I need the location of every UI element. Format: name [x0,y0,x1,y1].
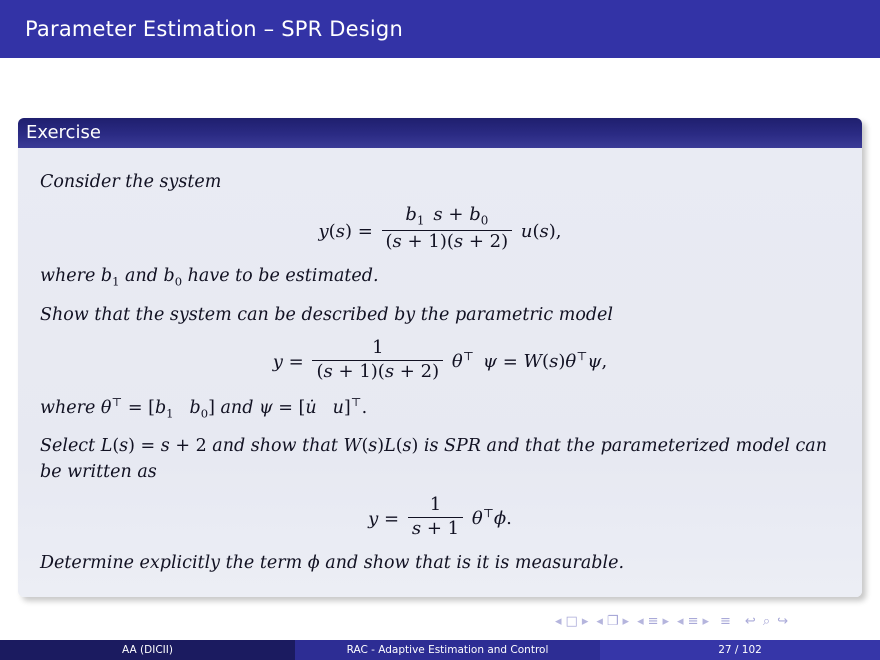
frame-icon[interactable]: ❐ [607,614,620,629]
frame-next-icon[interactable]: ▸ [623,614,631,629]
subsection-icon[interactable]: ≡ [648,614,660,629]
back-icon[interactable]: ↩ [745,614,757,629]
forward-icon[interactable]: ↪ [777,614,789,629]
footer-page-number: 27 / 102 [600,640,880,660]
slide-next-icon[interactable]: ▸ [582,614,590,629]
doc-icon[interactable]: ≡ [720,614,732,629]
equation-1-numerator: b1s + b0 [382,205,513,230]
exercise-block-heading: Exercise [18,118,862,148]
equation-2-lhs: y [273,351,283,372]
exercise-block-body: Consider the system y(s) = b1s + b0 (s +… [18,148,862,597]
subsection-next-icon[interactable]: ▸ [663,614,671,629]
nav-group-frame[interactable]: ◂❐▸ [596,614,630,629]
text-consider-the-system: Consider the system [40,170,848,195]
text-show-parametric-model: Show that the system can be described by… [40,303,848,328]
search-icon[interactable]: ⌕ [763,614,771,629]
text-select-ls-spr: Select L(s) = s + 2 and show that W(s)L(… [40,434,848,485]
equation-1-lhs: y [318,221,328,242]
equation-2-numerator: 1 [312,338,443,361]
equation-final-parameterized-model: y = 1 s + 1 θ⊤ϕ. [32,495,848,539]
equation-1-rhs: u [521,221,533,242]
equation-3-denominator: s + 1 [408,518,463,540]
equation-3-fraction: 1 s + 1 [408,495,463,539]
equation-1-denominator: (s + 1)(s + 2) [382,231,513,253]
equation-system-transfer-function: y(s) = b1s + b0 (s + 1)(s + 2) u(s), [32,205,848,252]
equation-2-fraction: 1 (s + 1)(s + 2) [312,338,443,382]
equation-3-numerator: 1 [408,495,463,518]
equation-parametric-model: y = 1 (s + 1)(s + 2) θ⊤ψ = W(s)θ⊤ψ, [32,338,848,382]
slide-title-bar: Parameter Estimation – SPR Design [0,0,880,58]
frame-prev-icon[interactable]: ◂ [596,614,604,629]
text-where-b1-b0-estimated: where b1 and b0 have to be estimated. [40,264,848,290]
footer-author: AA (DICII) [0,640,295,660]
equation-1-fraction: b1s + b0 (s + 1)(s + 2) [382,205,513,252]
equation-3-lhs: y [368,508,378,529]
nav-group-section[interactable]: ◂≡▸ [677,614,710,629]
nav-group-history[interactable]: ↩⌕↪ [742,614,792,629]
text-determine-phi-measurable: Determine explicitly the term ϕ and show… [40,551,848,576]
equation-2-rhs: W(s)θ⊤ψ, [524,351,608,372]
equation-2-denominator: (s + 1)(s + 2) [312,361,443,383]
slide-prev-icon[interactable]: ◂ [555,614,563,629]
equation-2-theta-psi: θ⊤ψ [452,351,497,372]
beamer-navigation-symbols: ◂□▸◂❐▸◂≡▸◂≡▸≡↩⌕↪ [555,614,865,636]
section-prev-icon[interactable]: ◂ [677,614,685,629]
text-where-theta-psi-definitions: where θ⊤ = [b1b0] and ψ = [u̇u]⊤. [40,394,848,422]
slide-icon[interactable]: □ [566,614,579,629]
nav-group-slide[interactable]: ◂□▸ [555,614,589,629]
section-icon[interactable]: ≡ [688,614,700,629]
equation-3-rhs: θ⊤ϕ. [472,508,512,529]
exercise-block: Exercise Consider the system y(s) = b1s … [18,118,862,597]
footer-subject: RAC - Adaptive Estimation and Control [295,640,600,660]
nav-group-document[interactable]: ≡ [717,614,735,629]
section-next-icon[interactable]: ▸ [702,614,710,629]
slide-footer: AA (DICII) RAC - Adaptive Estimation and… [0,640,880,660]
page-title: Parameter Estimation – SPR Design [25,17,403,41]
subsection-prev-icon[interactable]: ◂ [637,614,645,629]
nav-group-subsection[interactable]: ◂≡▸ [637,614,670,629]
